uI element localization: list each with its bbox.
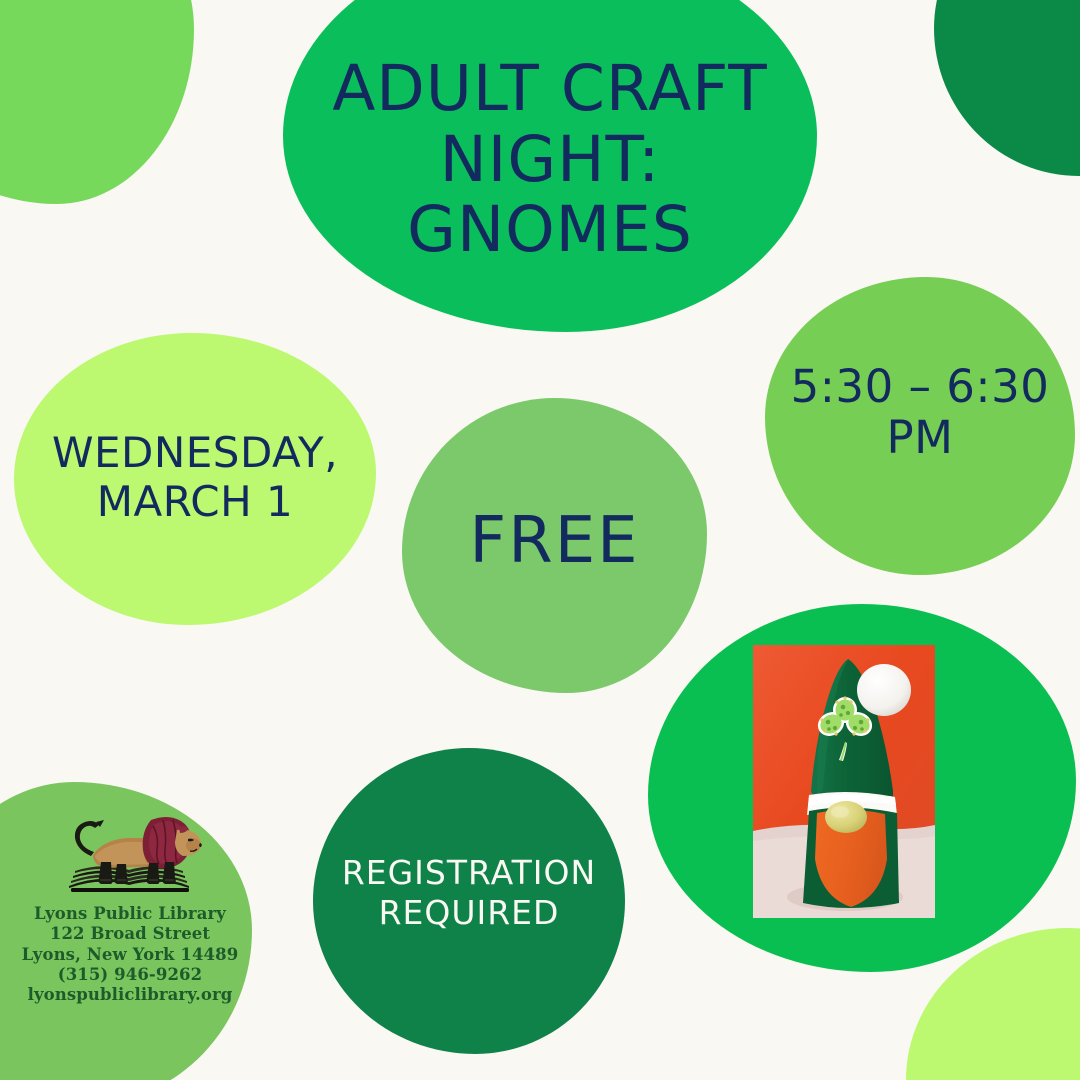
gnome-craft-photo: [753, 645, 935, 918]
date-line-2: MARCH 1: [97, 477, 294, 526]
corner-blob-top-right: [934, 0, 1080, 176]
page-title: ADULT CRAFT NIGHT: GNOMES: [283, 30, 817, 290]
registration-line-2: REQUIRED: [379, 893, 560, 932]
gnome-illustration: [753, 645, 935, 918]
title-line-1: ADULT CRAFT: [332, 52, 768, 125]
event-date: WEDNESDAY, MARCH 1: [14, 393, 376, 563]
time-line-2: PM: [887, 411, 954, 464]
library-address-block: Lyons Public Library 122 Broad Street Ly…: [10, 904, 250, 1005]
registration-line-1: REGISTRATION: [342, 853, 596, 892]
lion-on-book-icon: [55, 800, 205, 898]
event-poster: ADULT CRAFT NIGHT: GNOMES WEDNESDAY, MAR…: [0, 0, 1080, 1080]
title-line-3: GNOMES: [407, 193, 693, 266]
library-street: 122 Broad Street: [10, 924, 250, 944]
date-line-1: WEDNESDAY,: [52, 428, 338, 477]
price-value: FREE: [469, 508, 639, 576]
library-phone: (315) 946-9262: [10, 965, 250, 985]
corner-blob-top-left: [0, 0, 194, 204]
price-label: FREE: [402, 487, 707, 597]
library-name: Lyons Public Library: [10, 904, 250, 924]
time-line-1: 5:30 – 6:30: [791, 360, 1050, 413]
library-logo: Lyons Public Library 122 Broad Street Ly…: [10, 800, 250, 1005]
title-line-2: NIGHT:: [440, 123, 661, 196]
library-website: lyonspubliclibrary.org: [10, 985, 250, 1005]
registration-notice: REGISTRATION REQUIRED: [313, 838, 625, 948]
library-city-state-zip: Lyons, New York 14489: [10, 945, 250, 965]
event-time: 5:30 – 6:30 PM: [765, 347, 1075, 477]
